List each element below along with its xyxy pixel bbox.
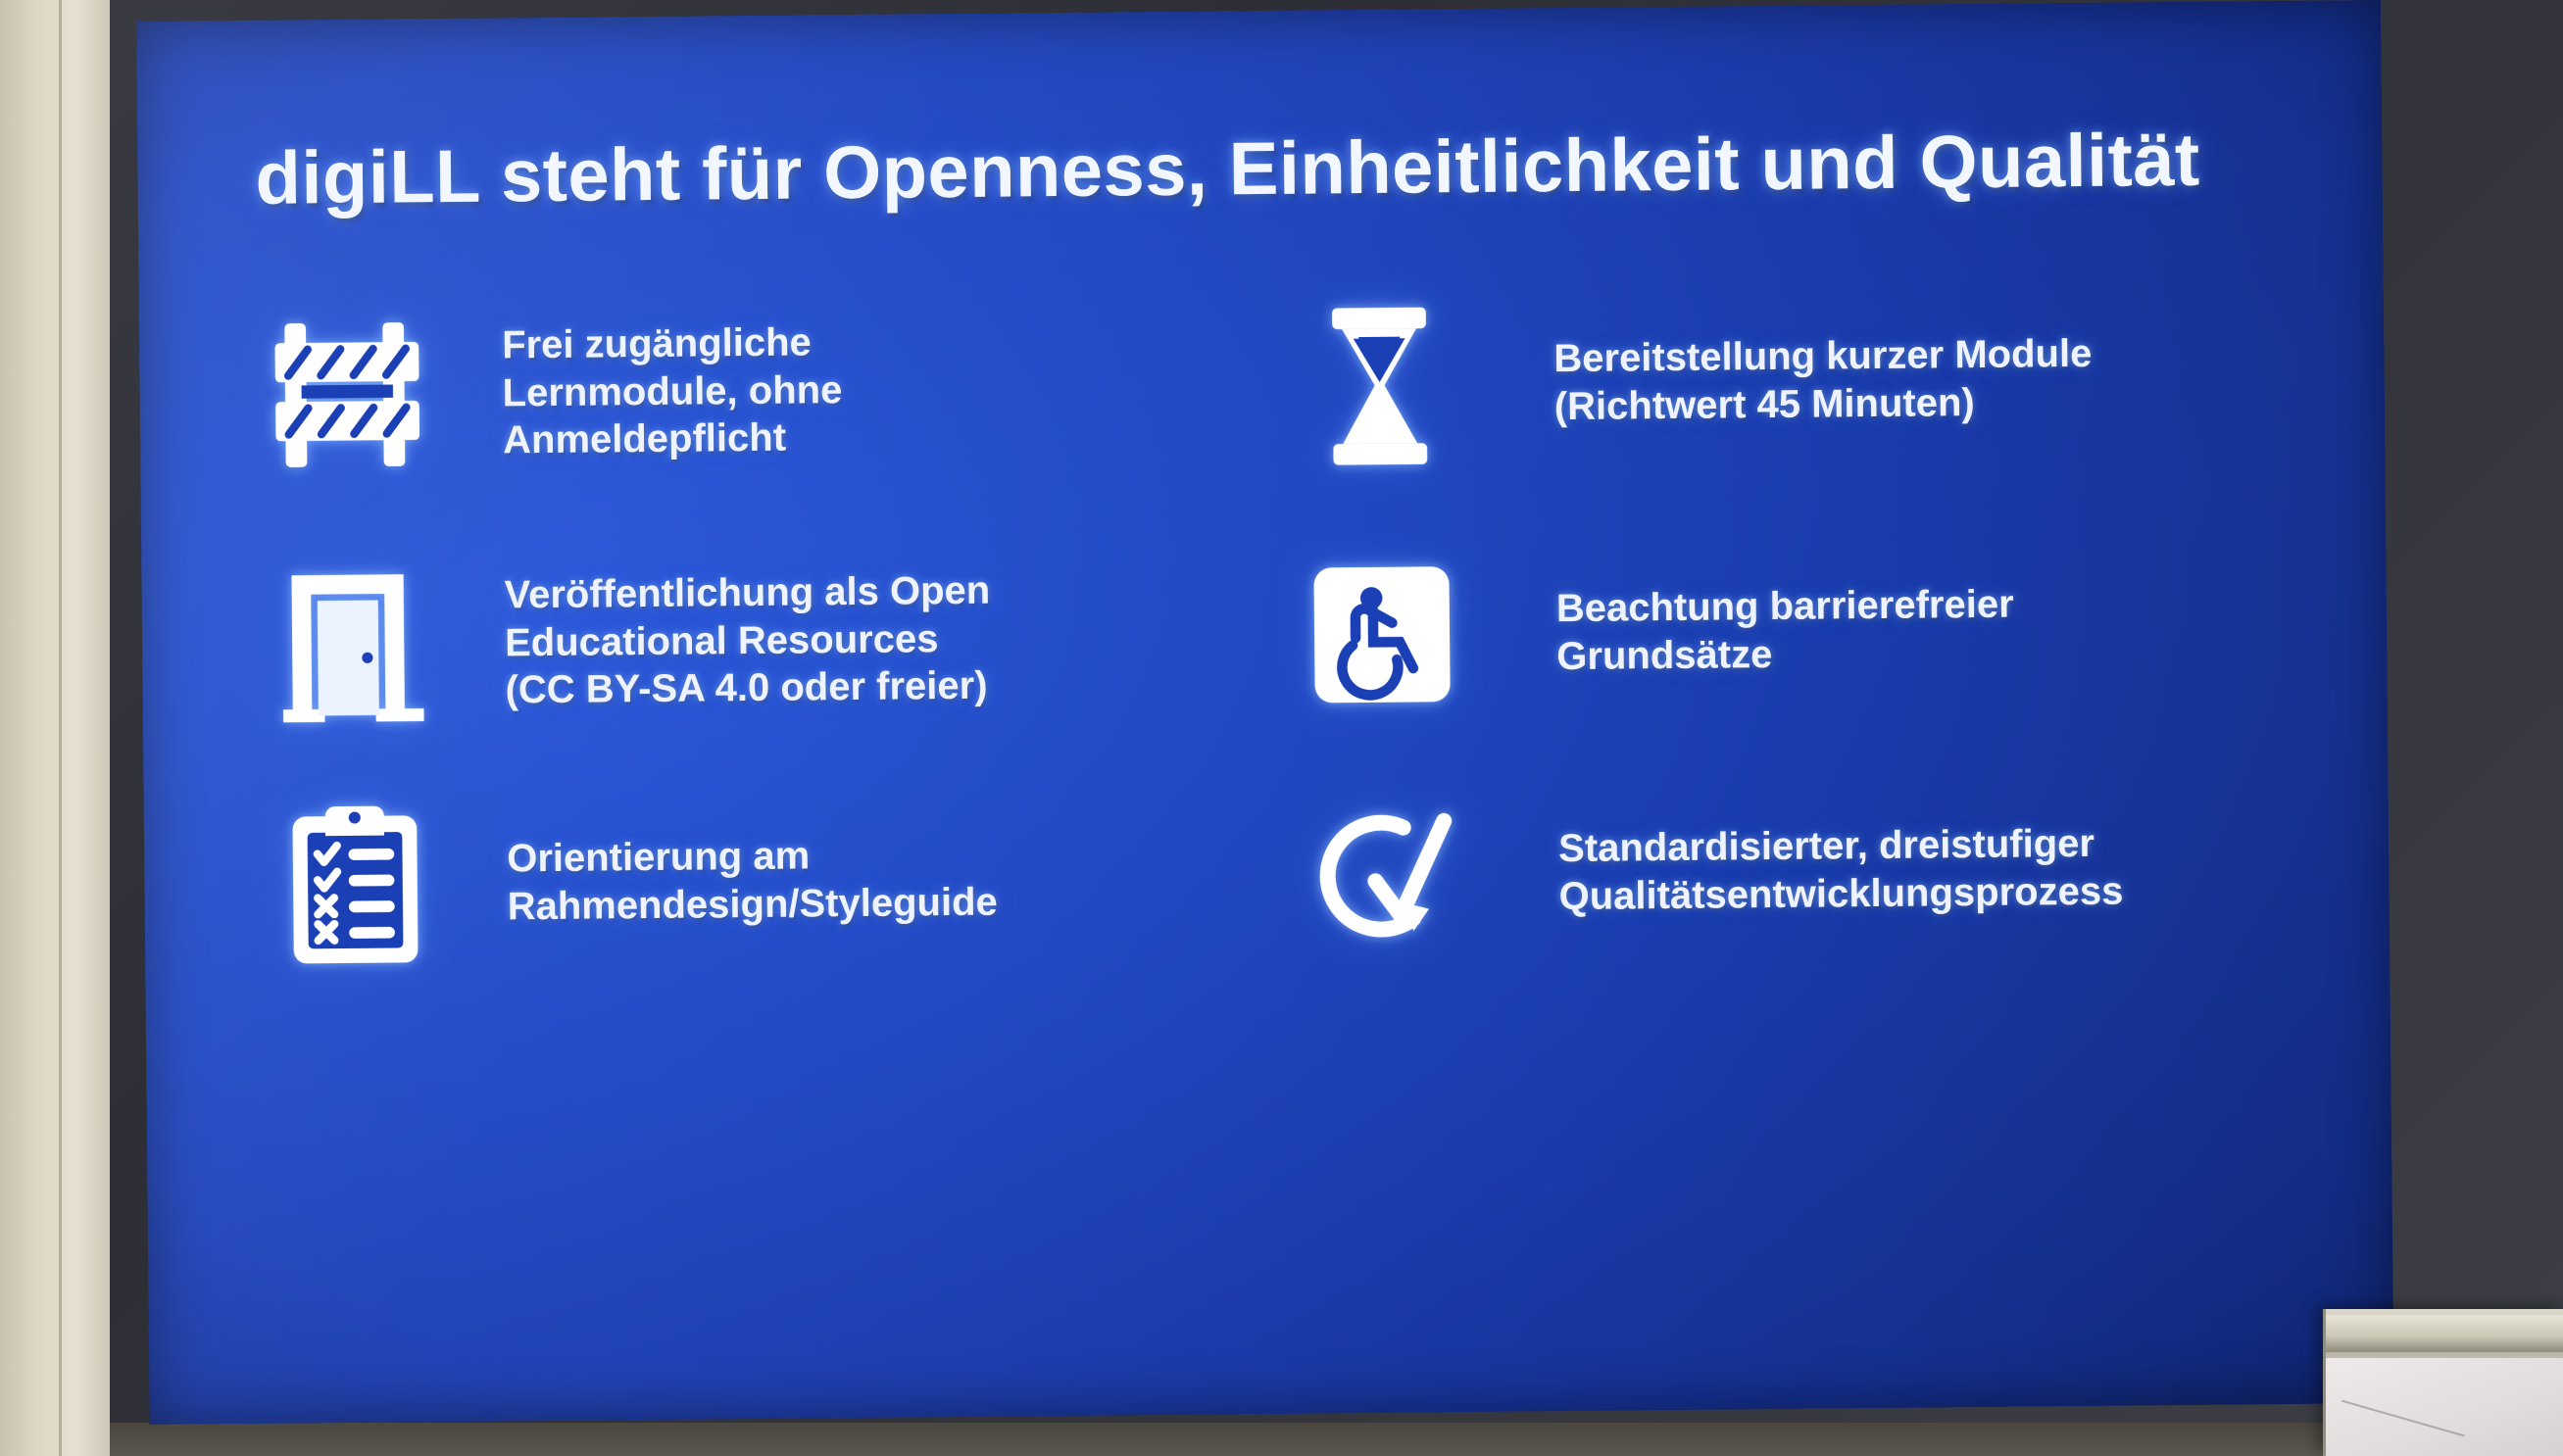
open-door-icon [229, 531, 476, 758]
slide-title: digiLL steht für Openness, Einheitlichke… [255, 117, 2275, 221]
presentation-photo-scene: digiLL steht für Openness, Einheitlichke… [0, 0, 2563, 1456]
feature-line: Bereitstellung kurzer Module [1553, 330, 2092, 383]
feature-item-styleguide: Orientierung am Rahmendesign/Styleguide [231, 766, 998, 998]
feature-text: Bereitstellung kurzer Module (Richtwert … [1553, 330, 2093, 431]
feature-line: Beachtung barrierefreier [1556, 581, 2014, 633]
checkmark-cycle-icon [1265, 761, 1503, 989]
clipboard-checklist-icon [231, 771, 478, 998]
hourglass-icon [1261, 271, 1499, 499]
wall-left [0, 0, 110, 1456]
feature-item-quality-process: Standardisierter, dreistufiger Qualitäts… [1265, 755, 2124, 989]
feature-line: Lernmodule, ohne [502, 366, 842, 417]
presentation-slide: digiLL steht für Openness, Einheitlichke… [136, 0, 2394, 1425]
feature-line: Frei zugängliche [502, 318, 842, 369]
feature-text: Beachtung barrierefreier Grundsätze [1556, 581, 2015, 681]
feature-text: Orientierung am Rahmendesign/Styleguide [507, 831, 998, 931]
feature-text: Standardisierter, dreistufiger Qualitäts… [1558, 820, 2124, 921]
feature-text: Frei zugängliche Lernmodule, ohne Anmeld… [502, 318, 843, 465]
barrier-icon [227, 281, 474, 509]
wheelchair-accessibility-icon [1263, 521, 1501, 749]
feature-grid: Frei zugängliche Lernmodule, ohne Anmeld… [227, 264, 2315, 1273]
feature-line: Orientierung am [507, 831, 998, 884]
feature-line: Qualitätsentwicklungsprozess [1558, 868, 2123, 921]
flipchart-sheet [2326, 1358, 2563, 1456]
floor-strip [110, 1423, 2563, 1456]
feature-line: Educational Resources [505, 614, 991, 667]
feature-line: Grundsätze [1556, 629, 2014, 681]
flipchart-whiteboard [2323, 1309, 2563, 1456]
feature-item-module-length: Bereitstellung kurzer Module (Richtwert … [1261, 266, 2094, 499]
flipchart-rail [2326, 1315, 2563, 1352]
feature-line: Rahmendesign/Styleguide [507, 879, 998, 932]
feature-line: (CC BY-SA 4.0 oder freier) [505, 662, 991, 715]
feature-item-accessibility: Beachtung barrierefreier Grundsätze [1263, 516, 2015, 749]
feature-line: Anmeldepflicht [503, 413, 843, 464]
feature-item-oer-license: Veröffentlichung als Open Educational Re… [229, 526, 992, 758]
feature-line: (Richtwert 45 Minuten) [1554, 378, 2093, 431]
flipchart-crease [2334, 1400, 2464, 1456]
feature-text: Veröffentlichung als Open Educational Re… [504, 566, 991, 714]
feature-item-open-access: Frei zugängliche Lernmodule, ohne Anmeld… [227, 277, 844, 509]
feature-line: Standardisierter, dreistufiger [1558, 820, 2123, 873]
feature-line: Veröffentlichung als Open [504, 566, 990, 619]
